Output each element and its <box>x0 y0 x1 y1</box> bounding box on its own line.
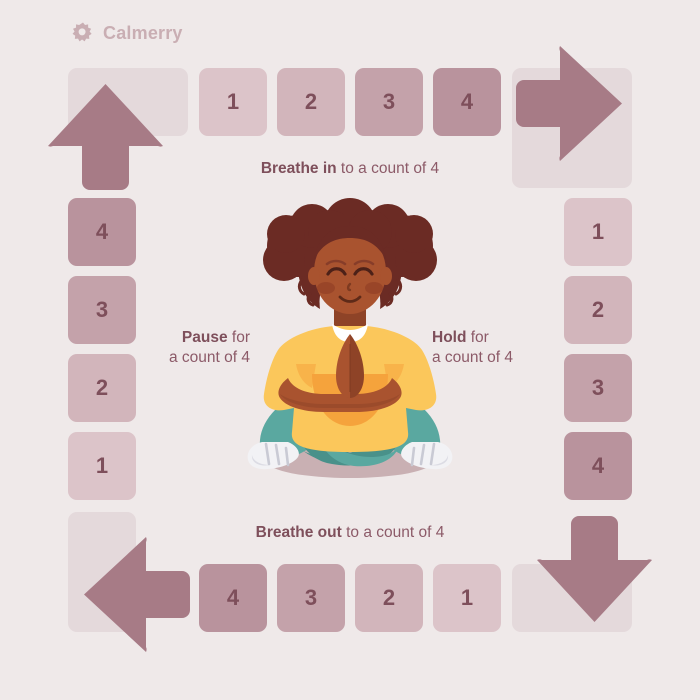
count-square-top-4: 4 <box>433 68 501 136</box>
meditating-girl-illustration <box>240 198 460 488</box>
count-value: 2 <box>592 297 604 323</box>
breathing-exercise-infographic: Calmerry 1 2 3 4 1 2 3 4 4 3 2 1 4 <box>0 0 700 700</box>
brand-name: Calmerry <box>103 23 183 44</box>
count-square-left-1: 1 <box>68 432 136 500</box>
count-square-top-1: 1 <box>199 68 267 136</box>
count-value: 3 <box>96 297 108 323</box>
label-hold-rest: for <box>466 329 488 346</box>
count-value: 4 <box>592 453 604 479</box>
count-value: 3 <box>305 585 317 611</box>
count-square-top-2: 2 <box>277 68 345 136</box>
brand-logo: Calmerry <box>72 22 183 44</box>
count-square-left-3: 3 <box>68 276 136 344</box>
count-value: 2 <box>305 89 317 115</box>
label-breathe-in-rest: to a count of 4 <box>337 160 440 177</box>
count-square-right-4: 4 <box>564 432 632 500</box>
count-square-top-3: 3 <box>355 68 423 136</box>
count-square-bottom-4: 4 <box>199 564 267 632</box>
flower-gear-icon <box>72 22 94 44</box>
label-breathe-in-bold: Breathe in <box>261 160 337 177</box>
count-value: 4 <box>96 219 108 245</box>
count-value: 2 <box>383 585 395 611</box>
label-breathe-out-rest: to a count of 4 <box>342 524 445 541</box>
count-value: 1 <box>96 453 108 479</box>
count-value: 4 <box>227 585 239 611</box>
count-value: 1 <box>461 585 473 611</box>
count-value: 4 <box>461 89 473 115</box>
count-square-bottom-3: 3 <box>277 564 345 632</box>
label-pause: Pause for a count of 4 <box>140 328 250 368</box>
count-square-left-4: 4 <box>68 198 136 266</box>
count-square-right-2: 2 <box>564 276 632 344</box>
label-pause-bold: Pause <box>182 329 228 346</box>
label-pause-line1: Pause for <box>140 328 250 348</box>
count-square-right-1: 1 <box>564 198 632 266</box>
arrow-right-icon <box>516 46 622 161</box>
arrow-left-icon <box>84 537 190 652</box>
count-square-left-2: 2 <box>68 354 136 422</box>
label-breathe-in: Breathe in to a count of 4 <box>0 159 700 179</box>
label-pause-line2: a count of 4 <box>140 348 250 368</box>
count-value: 1 <box>227 89 239 115</box>
count-square-bottom-2: 2 <box>355 564 423 632</box>
count-square-bottom-1: 1 <box>433 564 501 632</box>
count-value: 2 <box>96 375 108 401</box>
count-value: 3 <box>592 375 604 401</box>
label-breathe-out: Breathe out to a count of 4 <box>0 523 700 543</box>
label-breathe-out-bold: Breathe out <box>256 524 342 541</box>
count-value: 1 <box>592 219 604 245</box>
count-value: 3 <box>383 89 395 115</box>
count-square-right-3: 3 <box>564 354 632 422</box>
